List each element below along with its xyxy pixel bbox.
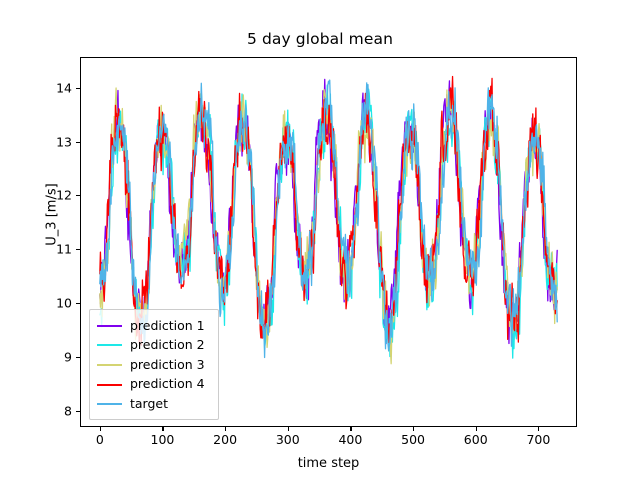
legend-item-label: target — [130, 398, 168, 411]
y-tick-label: 14 — [32, 80, 72, 95]
x-tick-label: 600 — [446, 432, 506, 447]
legend-item-label: prediction 1 — [130, 320, 205, 333]
y-tick-label: 10 — [32, 296, 72, 311]
y-tick-label: 13 — [32, 134, 72, 149]
x-axis-label: time step — [80, 456, 577, 471]
x-tick-mark — [162, 427, 163, 431]
legend-item-prediction-4[interactable]: prediction 4 — [97, 375, 211, 395]
legend-item-label: prediction 3 — [130, 359, 205, 372]
legend-color-swatch-icon — [97, 325, 122, 327]
x-tick-label: 700 — [508, 432, 568, 447]
x-tick-label: 400 — [320, 432, 380, 447]
page-title: 5 day global mean — [0, 30, 640, 48]
x-tick-mark — [100, 427, 101, 431]
x-tick-label: 0 — [70, 432, 130, 447]
legend[interactable]: prediction 1prediction 2prediction 3pred… — [89, 309, 219, 420]
x-tick-mark — [538, 427, 539, 431]
legend-item-prediction-2[interactable]: prediction 2 — [97, 336, 211, 356]
x-tick-mark — [413, 427, 414, 431]
y-tick-label: 11 — [32, 242, 72, 257]
legend-color-swatch-icon — [97, 364, 122, 366]
legend-color-swatch-icon — [97, 344, 122, 346]
x-tick-label: 200 — [195, 432, 255, 447]
y-tick-label: 8 — [32, 403, 72, 418]
matplotlib-figure: 5 day global mean U_3 [m/s] time step 89… — [0, 0, 640, 480]
x-tick-label: 100 — [132, 432, 192, 447]
legend-color-swatch-icon — [97, 403, 122, 405]
legend-item-prediction-1[interactable]: prediction 1 — [97, 316, 211, 336]
y-tick-label: 9 — [32, 350, 72, 365]
legend-item-label: prediction 4 — [130, 378, 205, 391]
x-tick-label: 300 — [258, 432, 318, 447]
y-tick-label: 12 — [32, 188, 72, 203]
legend-item-label: prediction 2 — [130, 339, 205, 352]
x-tick-mark — [288, 427, 289, 431]
x-tick-mark — [350, 427, 351, 431]
x-tick-mark — [225, 427, 226, 431]
legend-item-target[interactable]: target — [97, 394, 211, 414]
x-tick-mark — [476, 427, 477, 431]
x-tick-label: 500 — [383, 432, 443, 447]
legend-item-prediction-3[interactable]: prediction 3 — [97, 355, 211, 375]
legend-color-swatch-icon — [97, 384, 122, 386]
